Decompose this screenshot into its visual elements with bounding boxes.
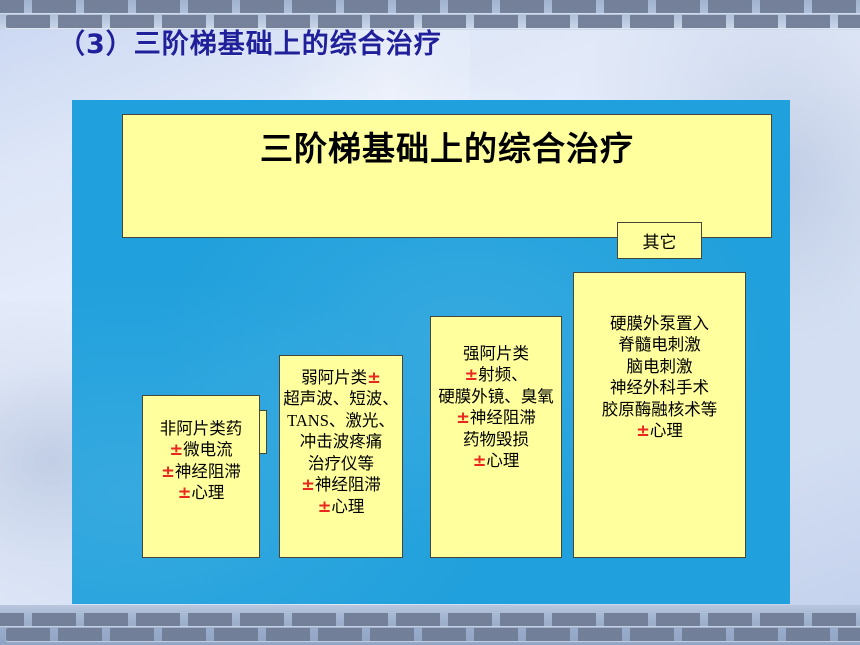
step-line: TANS、激光、 <box>283 410 399 431</box>
step-line: ±神经阻滞 <box>146 461 256 482</box>
step-box-2: 弱阿片类±超声波、短波、TANS、激光、冲击波疼痛治疗仪等±神经阻滞±心理 <box>279 355 403 558</box>
step-line: 超声波、短波、 <box>283 388 399 409</box>
step-line: ±心理 <box>283 496 399 517</box>
step-line: 治疗仪等 <box>283 453 399 474</box>
other-tab: 其它 <box>617 222 702 259</box>
step-line: ±心理 <box>434 450 558 471</box>
step-line: ±射频、 <box>434 364 558 385</box>
step-line: 非阿片类药 <box>146 418 256 439</box>
brick-row <box>0 613 860 626</box>
plus-minus-sign: ± <box>456 408 470 427</box>
step-line: 强阿片类 <box>434 343 558 364</box>
plus-minus-sign: ± <box>178 483 192 502</box>
plus-minus-sign: ± <box>367 368 381 387</box>
step-box-1: 非阿片类药±微电流±神经阻滞±心理 <box>142 395 260 558</box>
step-line: ±心理 <box>146 482 256 503</box>
step-line: ±微电流 <box>146 439 256 460</box>
diagram-header-title: 三阶梯基础上的综合治疗 <box>260 129 634 169</box>
step-line: 神经外科手术 <box>577 377 742 398</box>
step-line: ±神经阻滞 <box>434 407 558 428</box>
step-box-3-lines: 强阿片类±射频、硬膜外镜、臭氧±神经阻滞药物毁损±心理 <box>434 317 558 472</box>
step-line: 硬膜外镜、臭氧 <box>434 386 558 407</box>
step-box-4: 硬膜外泵置入脊髓电刺激脑电刺激神经外科手术胶原酶融核术等±心理 <box>573 272 746 558</box>
plus-minus-sign: ± <box>464 365 478 384</box>
brick-row <box>6 628 860 641</box>
step-line: 脊髓电刺激 <box>577 334 742 355</box>
plus-minus-sign: ± <box>169 440 183 459</box>
plus-minus-sign: ± <box>161 462 175 481</box>
step-line: ±心理 <box>577 420 742 441</box>
brick-row <box>0 0 860 13</box>
slide-canvas: （3）三阶梯基础上的综合治疗 三阶梯基础上的综合治疗 1 2 3 其它 非阿片类… <box>0 0 860 645</box>
plus-minus-sign: ± <box>301 475 315 494</box>
step-line: 药物毁损 <box>434 429 558 450</box>
step-box-3: 强阿片类±射频、硬膜外镜、臭氧±神经阻滞药物毁损±心理 <box>430 316 562 558</box>
step-line: 脑电刺激 <box>577 356 742 377</box>
step-box-1-lines: 非阿片类药±微电流±神经阻滞±心理 <box>146 396 256 504</box>
brick-border-bottom <box>0 605 860 645</box>
step-box-2-lines: 弱阿片类±超声波、短波、TANS、激光、冲击波疼痛治疗仪等±神经阻滞±心理 <box>283 356 399 517</box>
step-line: 弱阿片类± <box>283 367 399 388</box>
diagram-panel: 三阶梯基础上的综合治疗 1 2 3 其它 非阿片类药±微电流±神经阻滞±心理 弱… <box>72 100 790 604</box>
step-line: 胶原酶融核术等 <box>577 399 742 420</box>
step-line: 硬膜外泵置入 <box>577 313 742 334</box>
page-title: （3）三阶梯基础上的综合治疗 <box>58 22 442 61</box>
plus-minus-sign: ± <box>318 497 332 516</box>
step-line: 冲击波疼痛 <box>283 431 399 452</box>
plus-minus-sign: ± <box>636 421 650 440</box>
diagram-header-box: 三阶梯基础上的综合治疗 <box>122 114 772 238</box>
step-line: ±神经阻滞 <box>283 474 399 495</box>
step-box-4-lines: 硬膜外泵置入脊髓电刺激脑电刺激神经外科手术胶原酶融核术等±心理 <box>577 273 742 442</box>
plus-minus-sign: ± <box>473 451 487 470</box>
